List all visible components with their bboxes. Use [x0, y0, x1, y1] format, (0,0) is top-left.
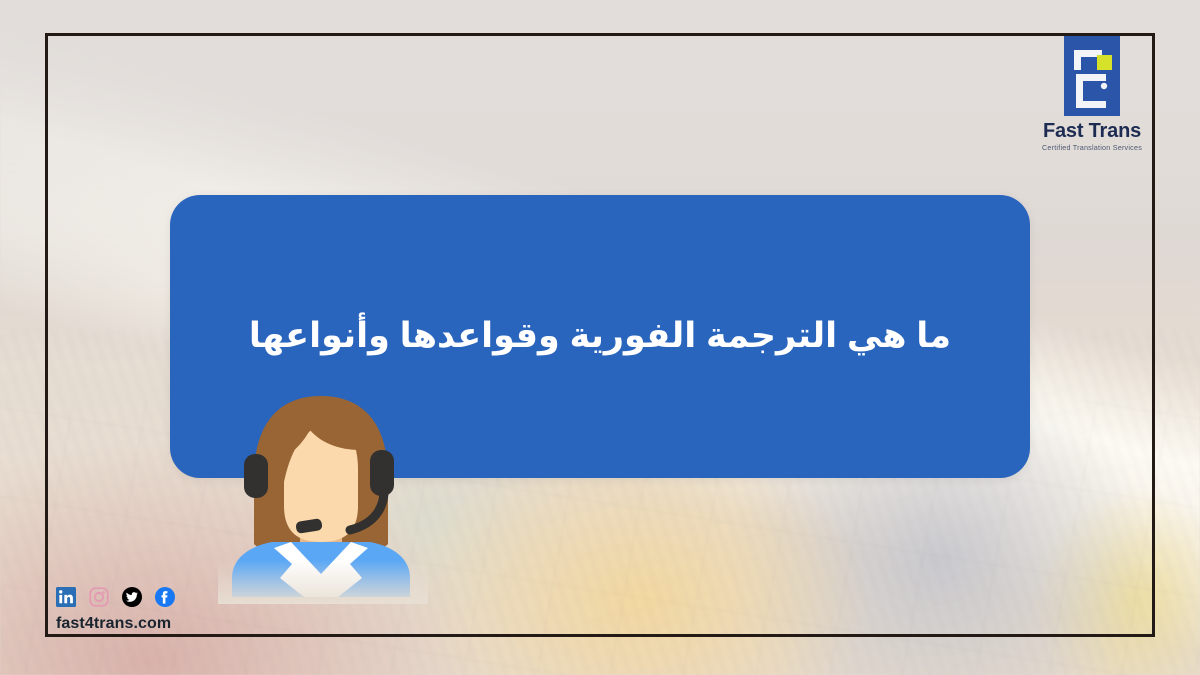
website-url[interactable]: fast4trans.com — [56, 615, 296, 633]
fast-trans-logo-mark — [1064, 36, 1120, 116]
operator-illustration — [228, 392, 414, 597]
social-block: fast4trans.com — [56, 586, 296, 633]
page-title: ما هي الترجمة الفورية وقواعدها وأنواعها — [207, 311, 993, 362]
instagram-icon[interactable] — [89, 587, 109, 607]
linkedin-icon[interactable] — [56, 587, 76, 607]
facebook-icon[interactable] — [155, 587, 175, 607]
brand-logo[interactable]: Fast Trans Certified Translation Service… — [1032, 36, 1152, 162]
twitter-icon[interactable] — [122, 587, 142, 607]
headset-earcup-left — [244, 454, 268, 498]
banner-canvas: ما هي الترجمة الفورية وقواعدها وأنواعها — [0, 0, 1200, 675]
logo-tagline: Certified Translation Services — [1032, 144, 1152, 151]
logo-wordmark: Fast Trans — [1032, 121, 1152, 141]
social-links-row — [56, 586, 296, 608]
